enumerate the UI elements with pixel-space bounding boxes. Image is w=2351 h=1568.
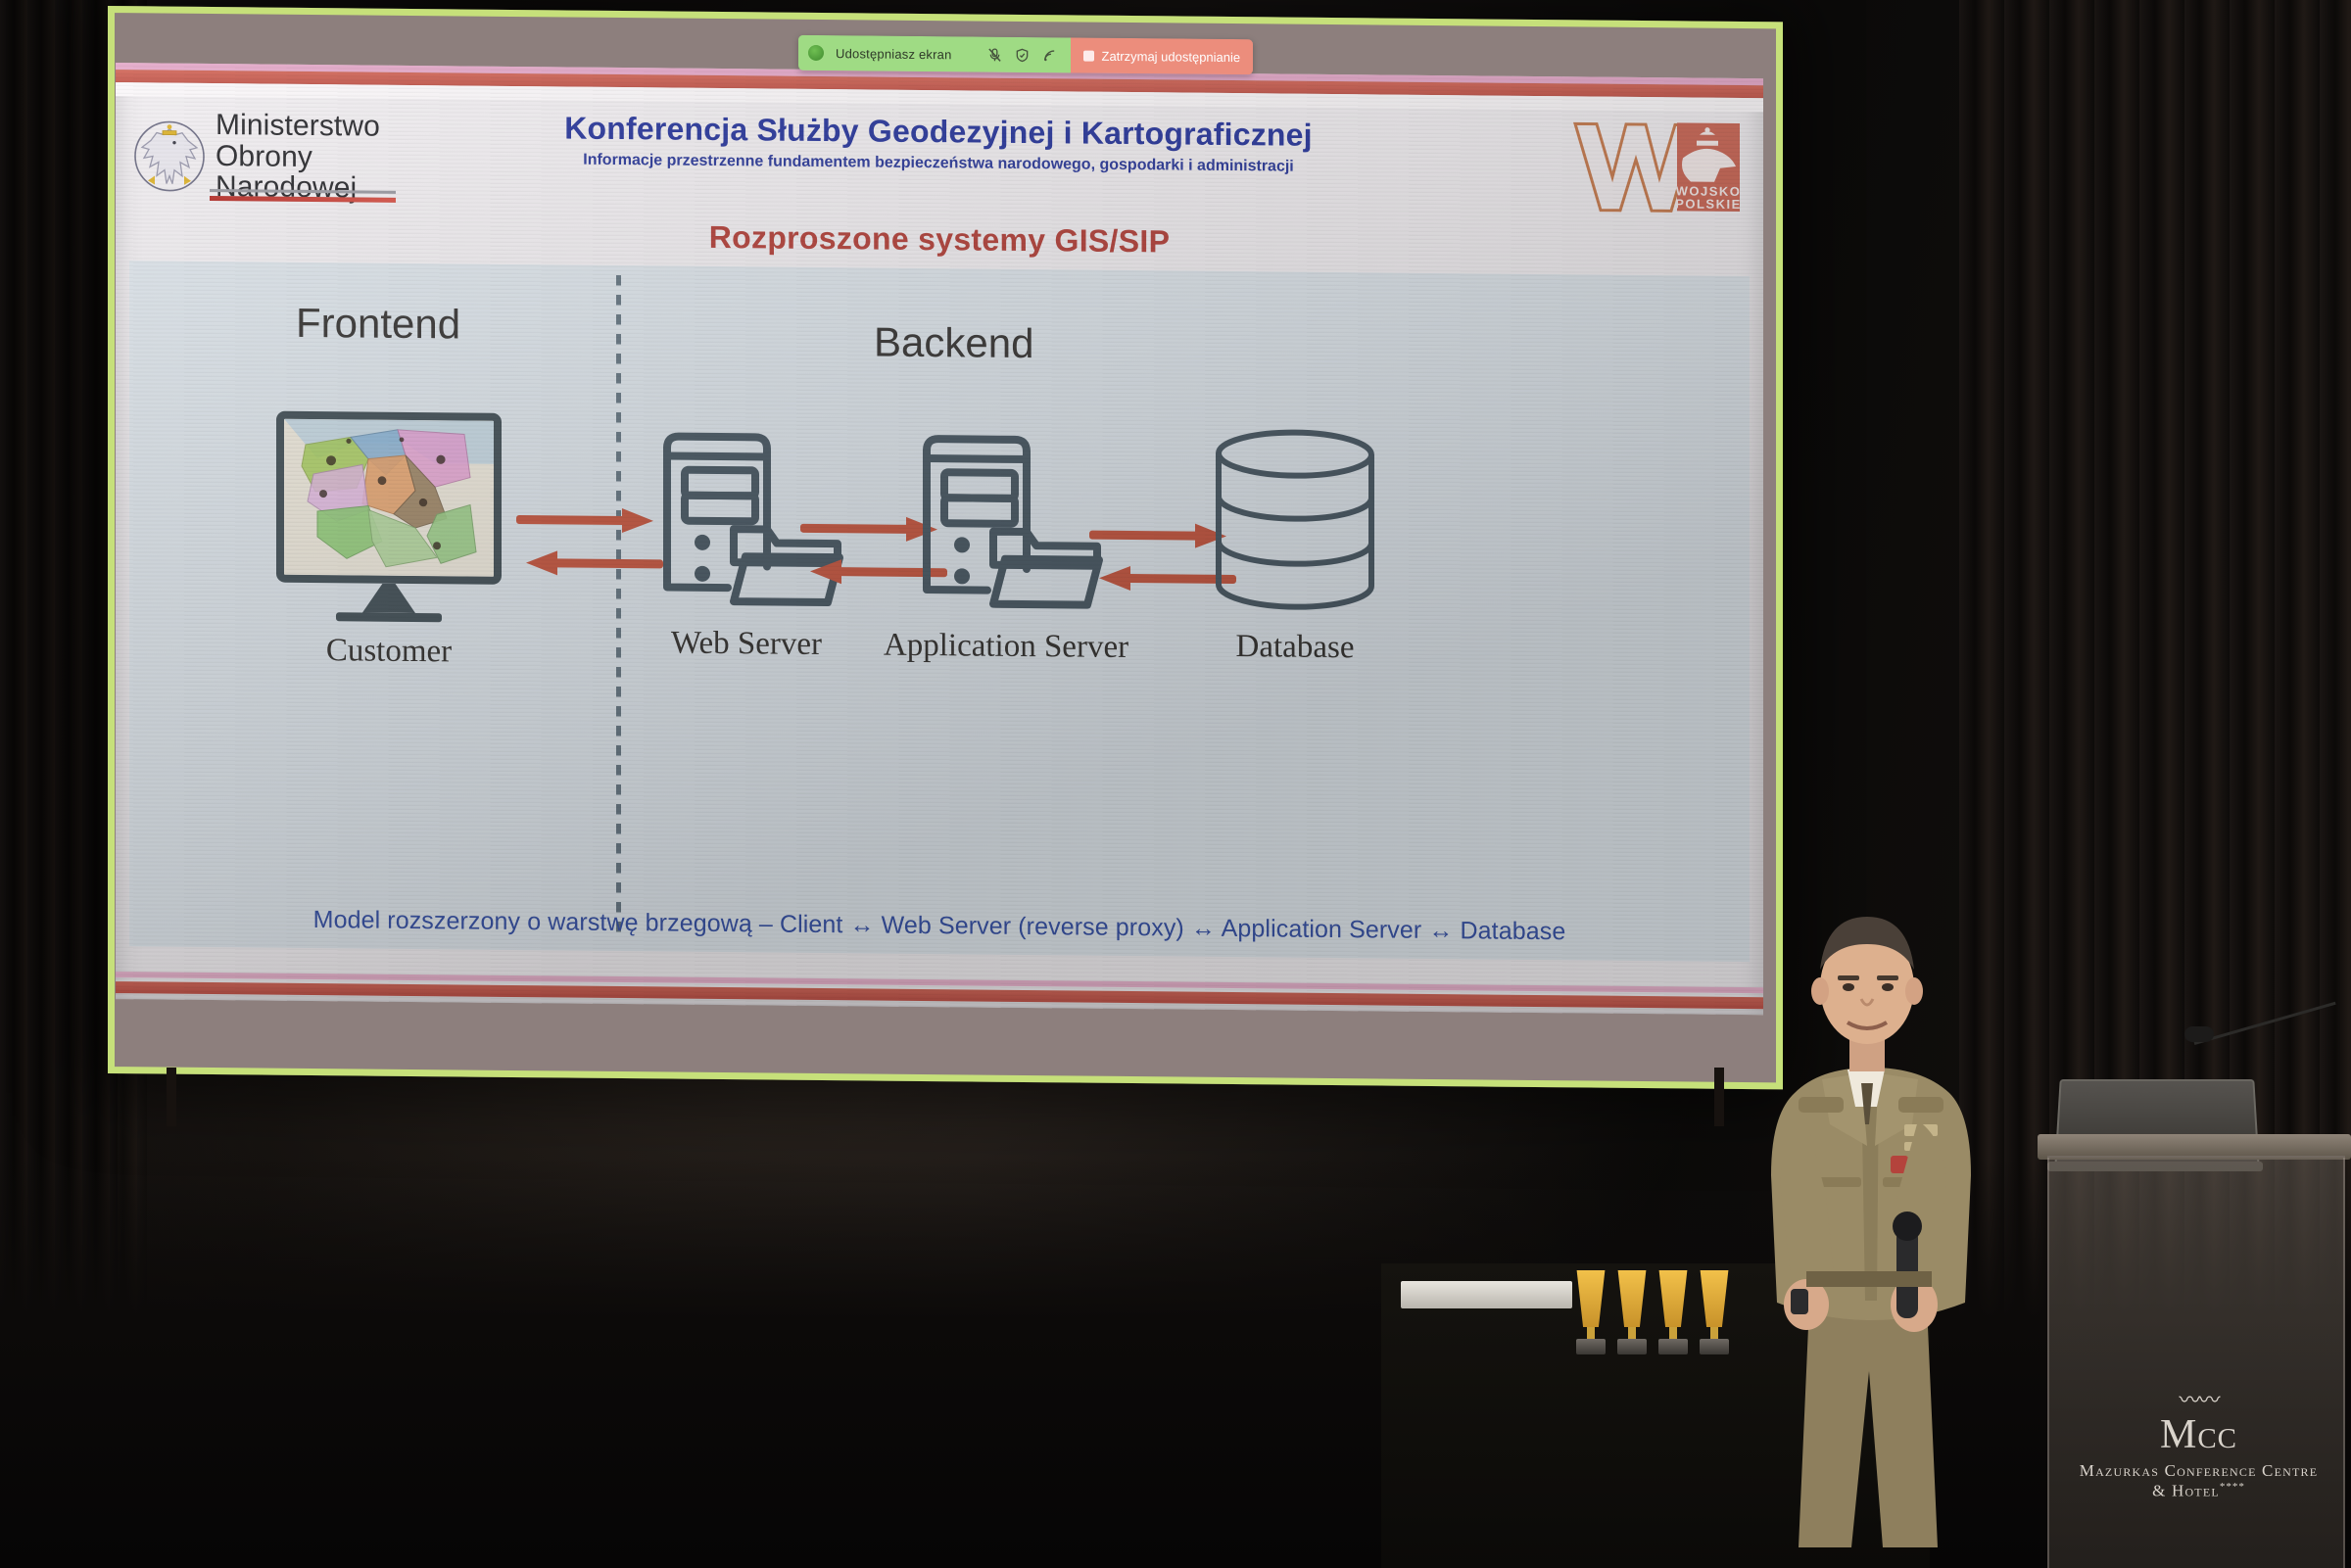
ministry-of-defence-logo: Ministerstwo Obrony Narodowej: [133, 104, 398, 210]
meet-logo-icon: [808, 45, 824, 61]
share-status-group: Udostępniasz ekran: [798, 35, 1071, 73]
node-label-database: Database: [1236, 629, 1355, 666]
ministry-line-1: Ministerstwo: [216, 110, 398, 143]
lectern-glass-panel: 〰〰 Mcc Mazurkas Conference Centre & Hote…: [2047, 1156, 2345, 1568]
conference-title: Konferencja Służby Geodezyjnej i Kartogr…: [507, 110, 1369, 154]
svg-text:POLSKIE: POLSKIE: [1675, 196, 1742, 212]
ministry-line-2: Obrony Narodowej: [216, 141, 398, 205]
presenter-person: [1704, 862, 2028, 1568]
zone-label-backend: Backend: [874, 319, 1033, 368]
architecture-diagram: Frontend Backend: [129, 261, 1750, 962]
node-label-application-server: Application Server: [884, 628, 1128, 666]
stop-square-icon: [1083, 50, 1094, 61]
shield-icon[interactable]: [1015, 47, 1030, 62]
trophy: [1614, 1270, 1650, 1360]
node-label-customer: Customer: [326, 633, 452, 670]
share-toolbar-icons: [987, 47, 1057, 63]
trophy: [1655, 1270, 1691, 1360]
leaf-icon: 〰〰: [2069, 1383, 2328, 1414]
broadcast-icon[interactable]: [1042, 48, 1057, 63]
node-label-web-server: Web Server: [671, 626, 822, 663]
venue-brand: Mcc: [2069, 1414, 2328, 1455]
screen-share-toolbar[interactable]: Udostępniasz ekran: [798, 35, 1253, 74]
venue-line-2-text: & Hotel: [2152, 1482, 2220, 1500]
venue-line-1: Mazurkas Conference Centre: [2069, 1461, 2328, 1481]
diagram-node-database: Database: [1168, 425, 1422, 666]
diagram-caption: Model rozszerzony o warstwę brzegową – C…: [129, 904, 1750, 948]
server-tower-folder-icon: [903, 415, 1109, 618]
projection-screen: Ministerstwo Obrony Narodowej Konferencj…: [108, 6, 1783, 1089]
conference-header: Konferencja Służby Geodezyjnej i Kartogr…: [507, 110, 1369, 176]
polish-eagle-crest-icon: [133, 115, 206, 198]
venue-line-2: & Hotel****: [2069, 1481, 2328, 1501]
microphone-muted-icon[interactable]: [987, 47, 1002, 62]
screen-stand: [108, 1068, 1783, 1136]
stop-sharing-label: Zatrzymaj udostępnianie: [1102, 48, 1241, 64]
zone-label-frontend: Frontend: [296, 300, 460, 349]
stop-sharing-button[interactable]: Zatrzymaj udostępnianie: [1071, 37, 1254, 74]
diagram-node-customer: Customer: [247, 410, 531, 671]
conference-subtitle: Informacje przestrzenne fundamentem bezp…: [507, 151, 1369, 176]
presentation-slide: Ministerstwo Obrony Narodowej Konferencj…: [116, 63, 1763, 1015]
screenshot-root: Ministerstwo Obrony Narodowej Konferencj…: [0, 0, 2351, 1568]
monitor-map-icon: [276, 411, 502, 623]
database-cylinder-icon: [1207, 426, 1383, 619]
microphone-icon: [2184, 1026, 2214, 1042]
share-status-label: Udostępniasz ekran: [836, 46, 952, 62]
stacked-papers: [1401, 1281, 1572, 1308]
venue-logo: 〰〰 Mcc Mazurkas Conference Centre & Hote…: [2069, 1383, 2328, 1501]
lectern: 〰〰 Mcc Mazurkas Conference Centre & Hote…: [2047, 1019, 2351, 1568]
venue-stars: ****: [2220, 1481, 2245, 1493]
slide-content: Ministerstwo Obrony Narodowej Konferencj…: [116, 96, 1763, 987]
trophy: [1573, 1270, 1608, 1360]
wojsko-polskie-logo-icon: WOJSKO POLSKIE: [1567, 116, 1744, 215]
slide-title: Rozproszone systemy GIS/SIP: [116, 214, 1763, 265]
